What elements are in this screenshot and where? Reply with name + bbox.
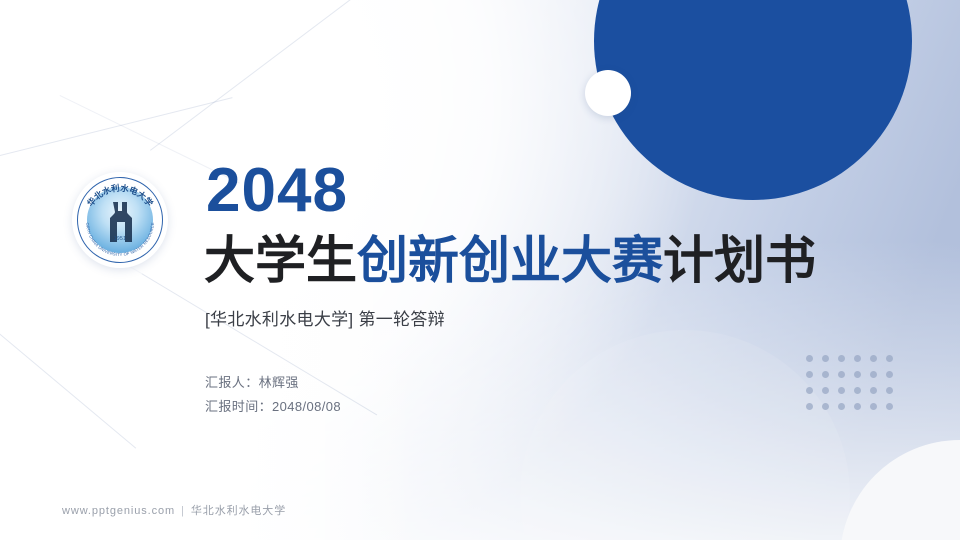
logo-inner-disc: 1951 (87, 187, 153, 253)
headline-part-2: 创新创业大赛 (357, 232, 663, 289)
logo-founded-year: 1951 (87, 236, 153, 242)
decor-circle-white-small (585, 70, 631, 116)
slide-subtitle: [华北水利水电大学] 第一轮答辩 (205, 305, 445, 330)
footer-website: www.pptgenius.com (62, 505, 175, 517)
footer-separator: | (181, 505, 185, 517)
slide-year: 2048 (206, 160, 348, 222)
slide-footer: www.pptgenius.com|华北水利水电大学 (62, 502, 286, 518)
university-logo: 1951 华北水利水电大学 NORTH CHINA UNIVERSITY OF … (72, 172, 168, 268)
meta-presenter: 汇报人：林辉强 (205, 371, 341, 395)
footer-organization: 华北水利水电大学 (191, 505, 286, 517)
slide-meta: 汇报人：林辉强 汇报时间：2048/08/08 (205, 371, 341, 419)
headline-part-1: 大学生 (204, 232, 357, 289)
meta-date: 汇报时间：2048/08/08 (205, 395, 341, 419)
headline-part-3: 计划书 (663, 232, 816, 289)
decor-dot-grid (806, 355, 902, 419)
presentation-slide: 1951 华北水利水电大学 NORTH CHINA UNIVERSITY OF … (0, 0, 960, 540)
slide-headline: 大学生创新创业大赛计划书 (204, 232, 816, 289)
